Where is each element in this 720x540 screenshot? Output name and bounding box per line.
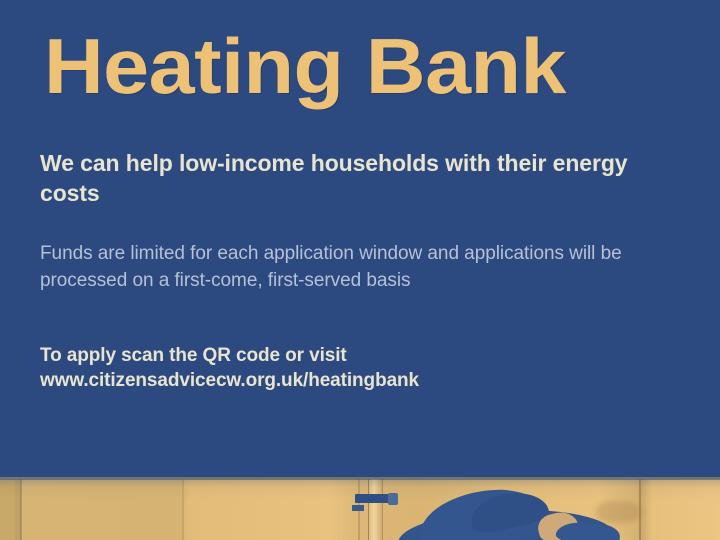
- poster-body-text: Funds are limited for each application w…: [40, 240, 640, 294]
- photo-top-edge: [0, 477, 720, 480]
- poster-text-area: Heating Bank We can help low-income hous…: [0, 0, 720, 477]
- figure-shadow: [596, 501, 640, 523]
- cta-url[interactable]: www.citizensadvicecw.org.uk/heatingbank: [40, 368, 660, 393]
- cta-instruction: To apply scan the QR code or visit: [40, 343, 660, 368]
- radiator-pipe: [368, 479, 383, 540]
- heating-bank-poster: Heating Bank We can help low-income hous…: [0, 0, 720, 540]
- page-title: Heating Bank: [44, 23, 566, 109]
- poster-subheading: We can help low-income households with t…: [40, 148, 665, 208]
- wall-seam: [182, 479, 184, 540]
- wall-seam: [20, 479, 22, 540]
- call-to-action: To apply scan the QR code or visit www.c…: [40, 343, 660, 393]
- poster-photo-strip: [0, 477, 720, 540]
- pipe-valve: [355, 494, 391, 503]
- pipe-valve-cap: [388, 493, 398, 505]
- pipe-valve-stub: [352, 505, 364, 511]
